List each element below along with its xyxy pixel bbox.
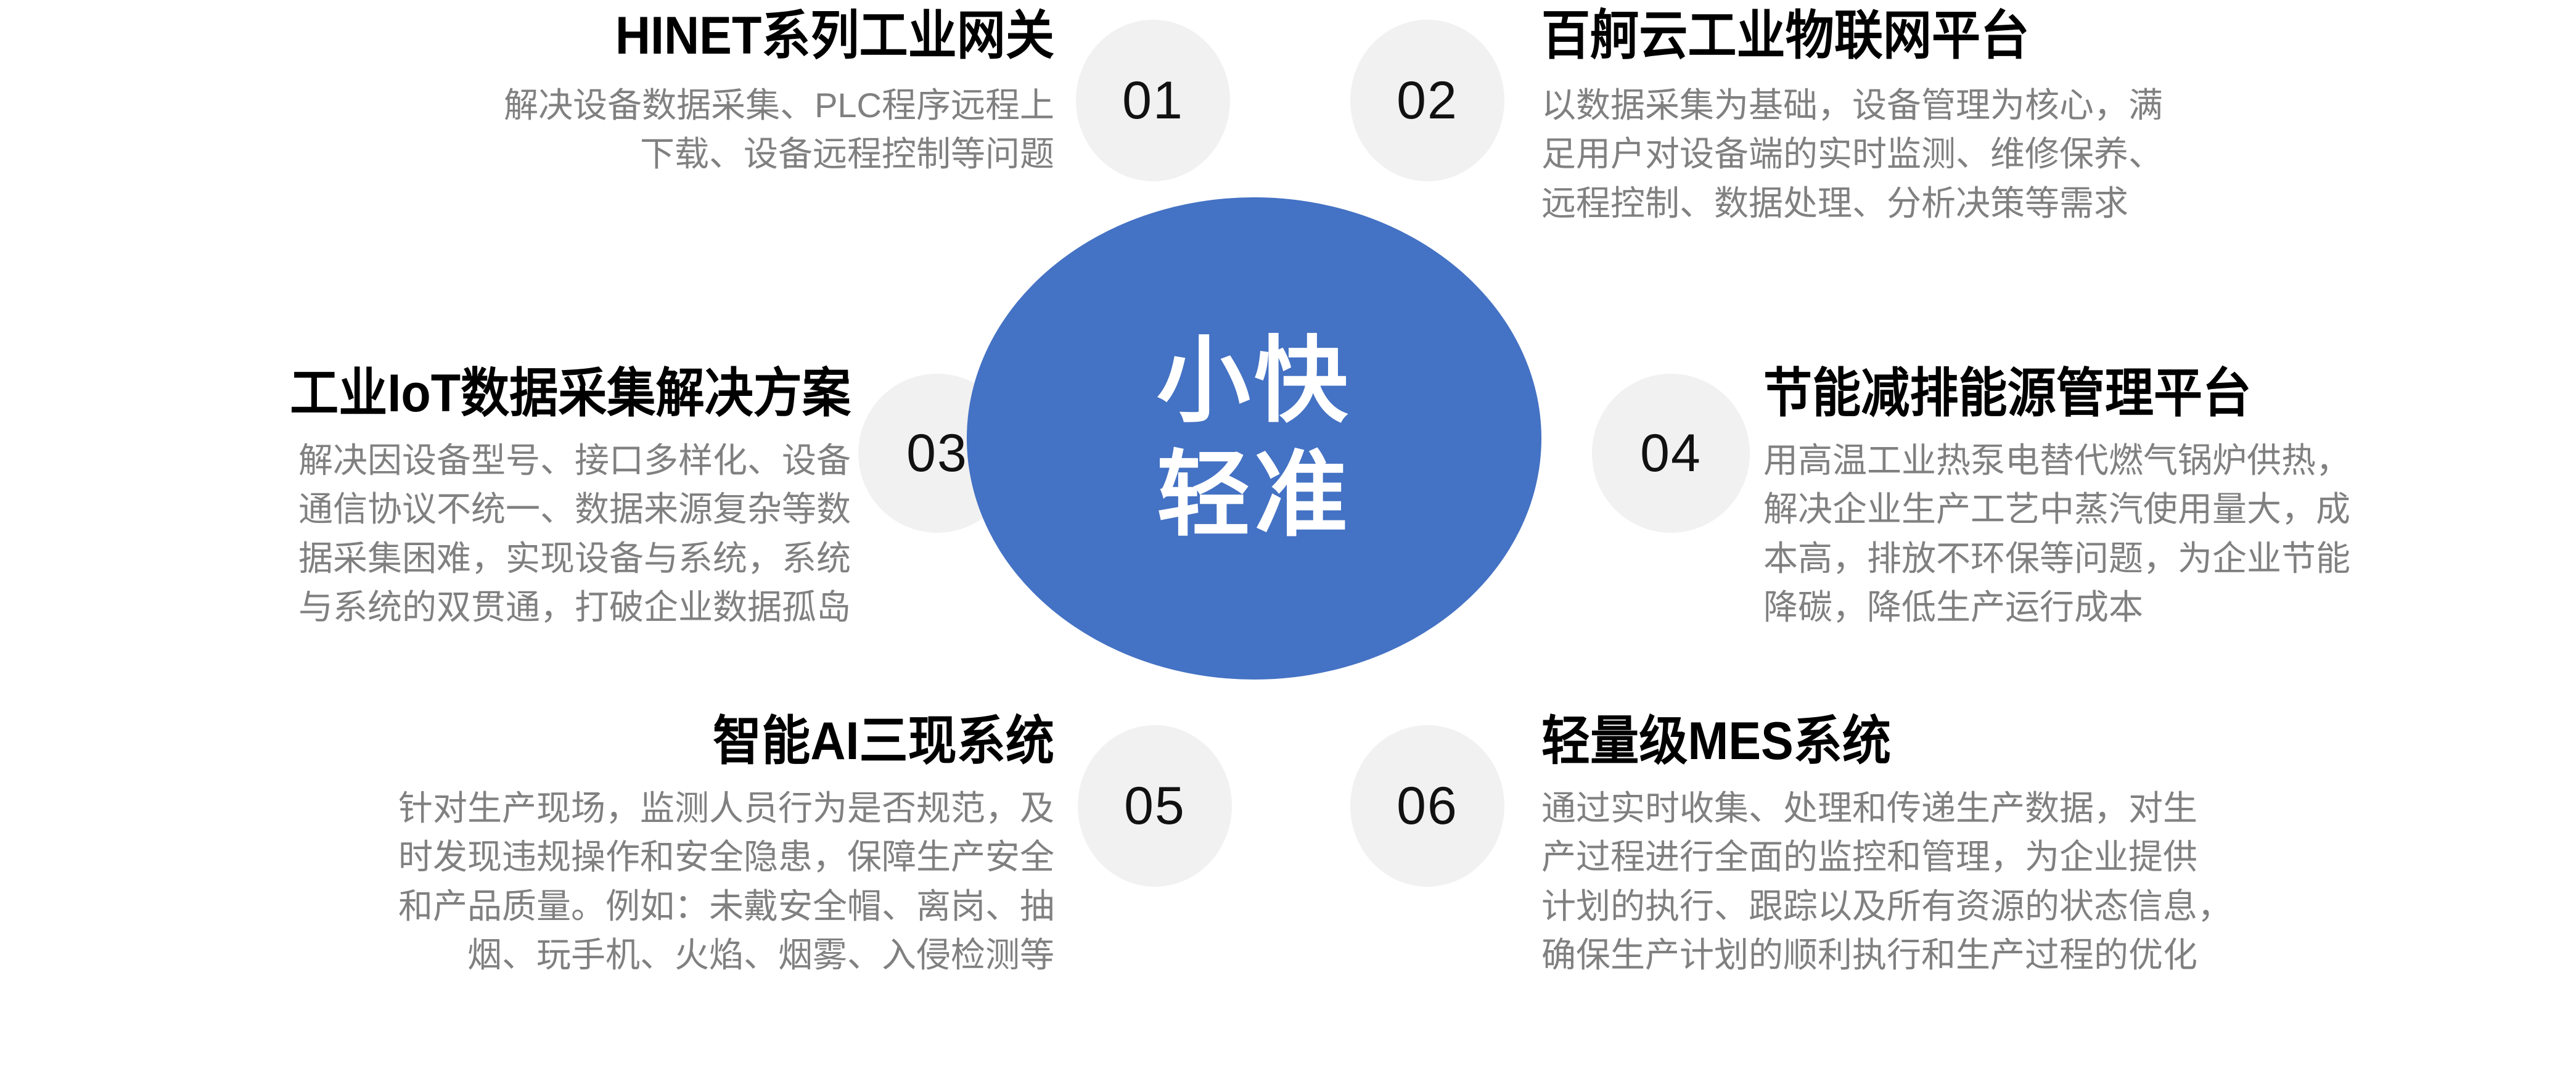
item-block-05: 智能AI三现系统 针对生产现场，监测人员行为是否规范，及 时发现违规操作和安全隐… <box>123 713 1054 980</box>
item-block-03: 工业IoT数据采集解决方案 解决因设备型号、接口多样化、设备 通信协议不统一、数… <box>0 365 851 632</box>
item-description-01: 解决设备数据采集、PLC程序远程上 下载、设备远程控制等问题 <box>271 81 1054 179</box>
item-title-06: 轻量级MES系统 <box>1541 713 2483 770</box>
center-hub-circle: 小快 轻准 <box>967 197 1541 680</box>
number-badge-06[interactable]: 06 <box>1350 725 1504 887</box>
item-title-04: 节能减排能源管理平台 <box>1763 365 2506 422</box>
item-description-05: 针对生产现场，监测人员行为是否规范，及 时发现违规操作和安全隐患，保障生产安全 … <box>123 784 1054 980</box>
center-hub-line-1: 小快 <box>1157 324 1352 438</box>
number-badge-05[interactable]: 05 <box>1078 725 1232 887</box>
number-badge-01[interactable]: 01 <box>1076 20 1230 181</box>
item-block-04: 节能减排能源管理平台 用高温工业热泵电替代燃气锅炉供热， 解决企业生产工艺中蒸汽… <box>1763 365 2571 632</box>
center-hub-line-2: 轻准 <box>1157 438 1352 552</box>
item-title-02: 百舸云工业物联网平台 <box>1541 7 2279 65</box>
number-badge-04[interactable]: 04 <box>1592 374 1750 533</box>
item-description-04: 用高温工业热泵电替代燃气锅炉供热， 解决企业生产工艺中蒸汽使用量大，成 本高，排… <box>1763 436 2571 632</box>
number-badge-02[interactable]: 02 <box>1350 20 1504 181</box>
item-block-06: 轻量级MES系统 通过实时收集、处理和传递生产数据，对生 产过程进行全面的监控和… <box>1541 713 2565 980</box>
item-title-03: 工业IoT数据采集解决方案 <box>68 365 851 422</box>
item-block-01: HINET系列工业网关 解决设备数据采集、PLC程序远程上 下载、设备远程控制等… <box>271 7 1054 179</box>
item-block-02: 百舸云工业物联网平台 以数据采集为基础，设备管理为核心，满 足用户对设备端的实时… <box>1541 7 2343 228</box>
item-title-05: 智能AI三现系统 <box>198 713 1054 770</box>
item-description-02: 以数据采集为基础，设备管理为核心，满 足用户对设备端的实时监测、维修保养、 远程… <box>1541 81 2343 228</box>
item-title-01: HINET系列工业网关 <box>334 7 1054 65</box>
item-description-03: 解决因设备型号、接口多样化、设备 通信协议不统一、数据来源复杂等数 据采集困难，… <box>0 436 851 632</box>
item-description-06: 通过实时收集、处理和传递生产数据，对生 产过程进行全面的监控和管理，为企业提供 … <box>1541 784 2565 980</box>
